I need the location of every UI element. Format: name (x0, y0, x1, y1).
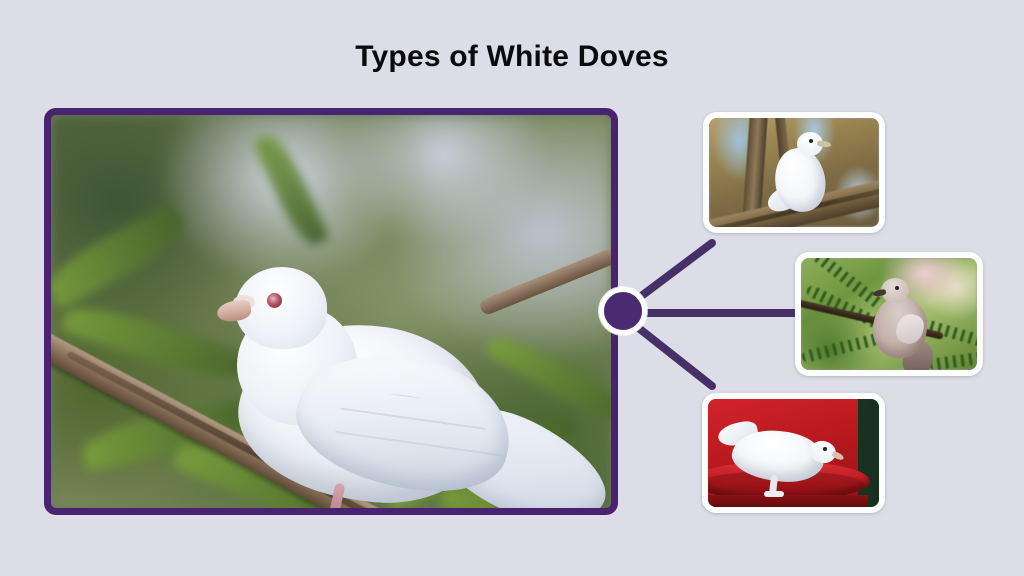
thumbnail-3-canvas (708, 399, 879, 507)
dove-eye (267, 293, 282, 308)
dove-foot (764, 491, 784, 497)
white-dove-illustration (722, 425, 858, 505)
dove-eye (895, 286, 899, 290)
dove-eye (809, 139, 813, 143)
connector-node[interactable] (599, 287, 647, 335)
dove-eye (823, 447, 827, 451)
main-photo-canvas (51, 115, 611, 508)
dove-beak (831, 451, 844, 462)
thumbnail-1-canvas (709, 118, 879, 227)
white-dove-illustration (767, 132, 851, 218)
thumbnail-2-canvas (801, 258, 977, 370)
connector-line-to-thumbnail-3 (636, 326, 712, 386)
thumbnail-collared-dove-in-ferns[interactable] (795, 252, 983, 376)
main-white-dove-photo[interactable] (44, 108, 618, 515)
white-dove-illustration (211, 265, 591, 508)
infographic-stage: Types of White Doves (0, 0, 1024, 576)
collared-dove-illustration (867, 278, 945, 370)
page-title: Types of White Doves (0, 40, 1024, 74)
thumbnail-dove-on-tree-branch[interactable] (703, 112, 885, 233)
connector-line-to-thumbnail-1 (636, 243, 712, 300)
thumbnail-dove-on-red-feeder[interactable] (702, 393, 885, 513)
